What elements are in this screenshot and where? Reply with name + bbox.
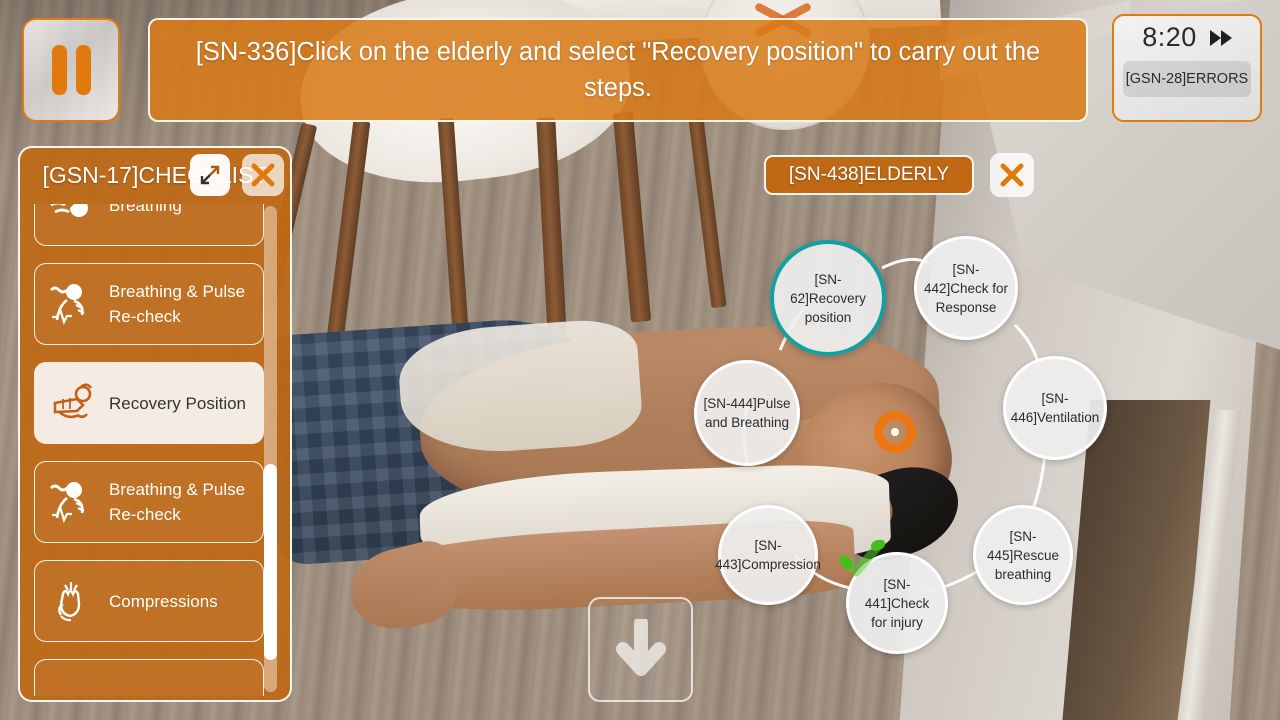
checklist-item-breathing-pulse-recheck-2[interactable]: Breathing & Pulse Re-check xyxy=(34,461,264,543)
hud-panel: 8:20 [GSN-28]ERRORS xyxy=(1112,14,1262,122)
arrow-down-icon xyxy=(613,619,669,681)
close-icon xyxy=(999,162,1025,188)
radial-node-recovery-position[interactable]: [SN-62]Recovery position xyxy=(770,240,886,356)
checklist-item-label: Breathing xyxy=(109,204,253,218)
checklist-close-button[interactable] xyxy=(242,154,284,196)
checklist-item-label: Breathing & Pulse Re-check xyxy=(109,477,253,527)
completed-check-icon xyxy=(840,540,886,582)
radial-node-compression[interactable]: [SN-443]Compression xyxy=(718,505,818,605)
checklist-item-compressions[interactable]: Compressions xyxy=(34,560,264,642)
errors-label: [GSN-28]ERRORS xyxy=(1126,71,1248,87)
checklist-panel: [GSN-17]CHECKLIST Breathing xyxy=(18,146,292,702)
checklist-item-breathing[interactable]: Breathing xyxy=(34,204,264,246)
radial-node-label: [SN-443]Compression xyxy=(715,536,821,574)
compressions-icon xyxy=(45,575,101,627)
radial-node-label: [SN-441]Check for injury xyxy=(855,575,939,632)
object-label-elderly: [SN-438]ELDERLY xyxy=(764,155,974,195)
checklist-expand-button[interactable] xyxy=(190,154,230,196)
expand-diagonal-icon xyxy=(198,163,222,187)
radial-node-rescue-breathing[interactable]: [SN-445]Rescue breathing xyxy=(973,505,1073,605)
placeholder-icon xyxy=(45,674,101,696)
checklist-scrollbar-track[interactable] xyxy=(264,206,277,692)
close-icon xyxy=(250,162,276,188)
radial-node-label: [SN-62]Recovery position xyxy=(780,270,876,327)
instruction-text: [SN-336]Click on the elderly and select … xyxy=(176,34,1060,106)
checklist-item-recovery-position[interactable]: Recovery Position xyxy=(34,362,264,444)
breathing-pulse-icon xyxy=(45,476,101,528)
timer-row: 8:20 xyxy=(1142,22,1232,53)
fast-forward-icon[interactable] xyxy=(1210,30,1232,46)
radial-hub-dot xyxy=(891,428,899,436)
instruction-banner: [SN-336]Click on the elderly and select … xyxy=(148,18,1088,122)
radial-node-label: [SN-444]Pulse and Breathing xyxy=(703,394,791,432)
timer-value: 8:20 xyxy=(1142,22,1197,53)
breathing-pulse-icon xyxy=(45,278,101,330)
radial-node-check-for-response[interactable]: [SN-442]Check for Response xyxy=(914,236,1018,340)
radial-node-ventilation[interactable]: [SN-446]Ventilation xyxy=(1003,356,1107,460)
recovery-position-icon xyxy=(45,377,101,429)
radial-node-label: [SN-445]Rescue breathing xyxy=(982,527,1064,584)
object-close-button[interactable] xyxy=(990,153,1034,197)
radial-node-pulse-and-breathing[interactable]: [SN-444]Pulse and Breathing xyxy=(694,360,800,466)
checklist-scrollbar-thumb[interactable] xyxy=(264,464,277,660)
checklist-item-label: Recovery Position xyxy=(109,391,253,416)
checklist-item-breathing-pulse-recheck-1[interactable]: Breathing & Pulse Re-check xyxy=(34,263,264,345)
checklist-item-next[interactable] xyxy=(34,659,264,696)
radial-node-label: [SN-446]Ventilation xyxy=(1011,389,1100,427)
object-label-text: [SN-438]ELDERLY xyxy=(789,164,949,186)
pause-button[interactable] xyxy=(22,18,120,122)
pause-icon-bar-right xyxy=(76,45,91,95)
scroll-down-button[interactable] xyxy=(588,597,693,702)
radial-node-label: [SN-442]Check for Response xyxy=(923,260,1009,317)
breathing-icon xyxy=(45,204,101,231)
checklist-item-label: Breathing & Pulse Re-check xyxy=(109,279,253,329)
errors-badge[interactable]: [GSN-28]ERRORS xyxy=(1123,61,1251,97)
pause-icon-bar-left xyxy=(52,45,67,95)
checklist-items[interactable]: Breathing Breathing & Pulse Re-check xyxy=(34,204,266,696)
simulation-app: [SN-336]Click on the elderly and select … xyxy=(0,0,1280,720)
checklist-item-label: Compressions xyxy=(109,589,253,614)
